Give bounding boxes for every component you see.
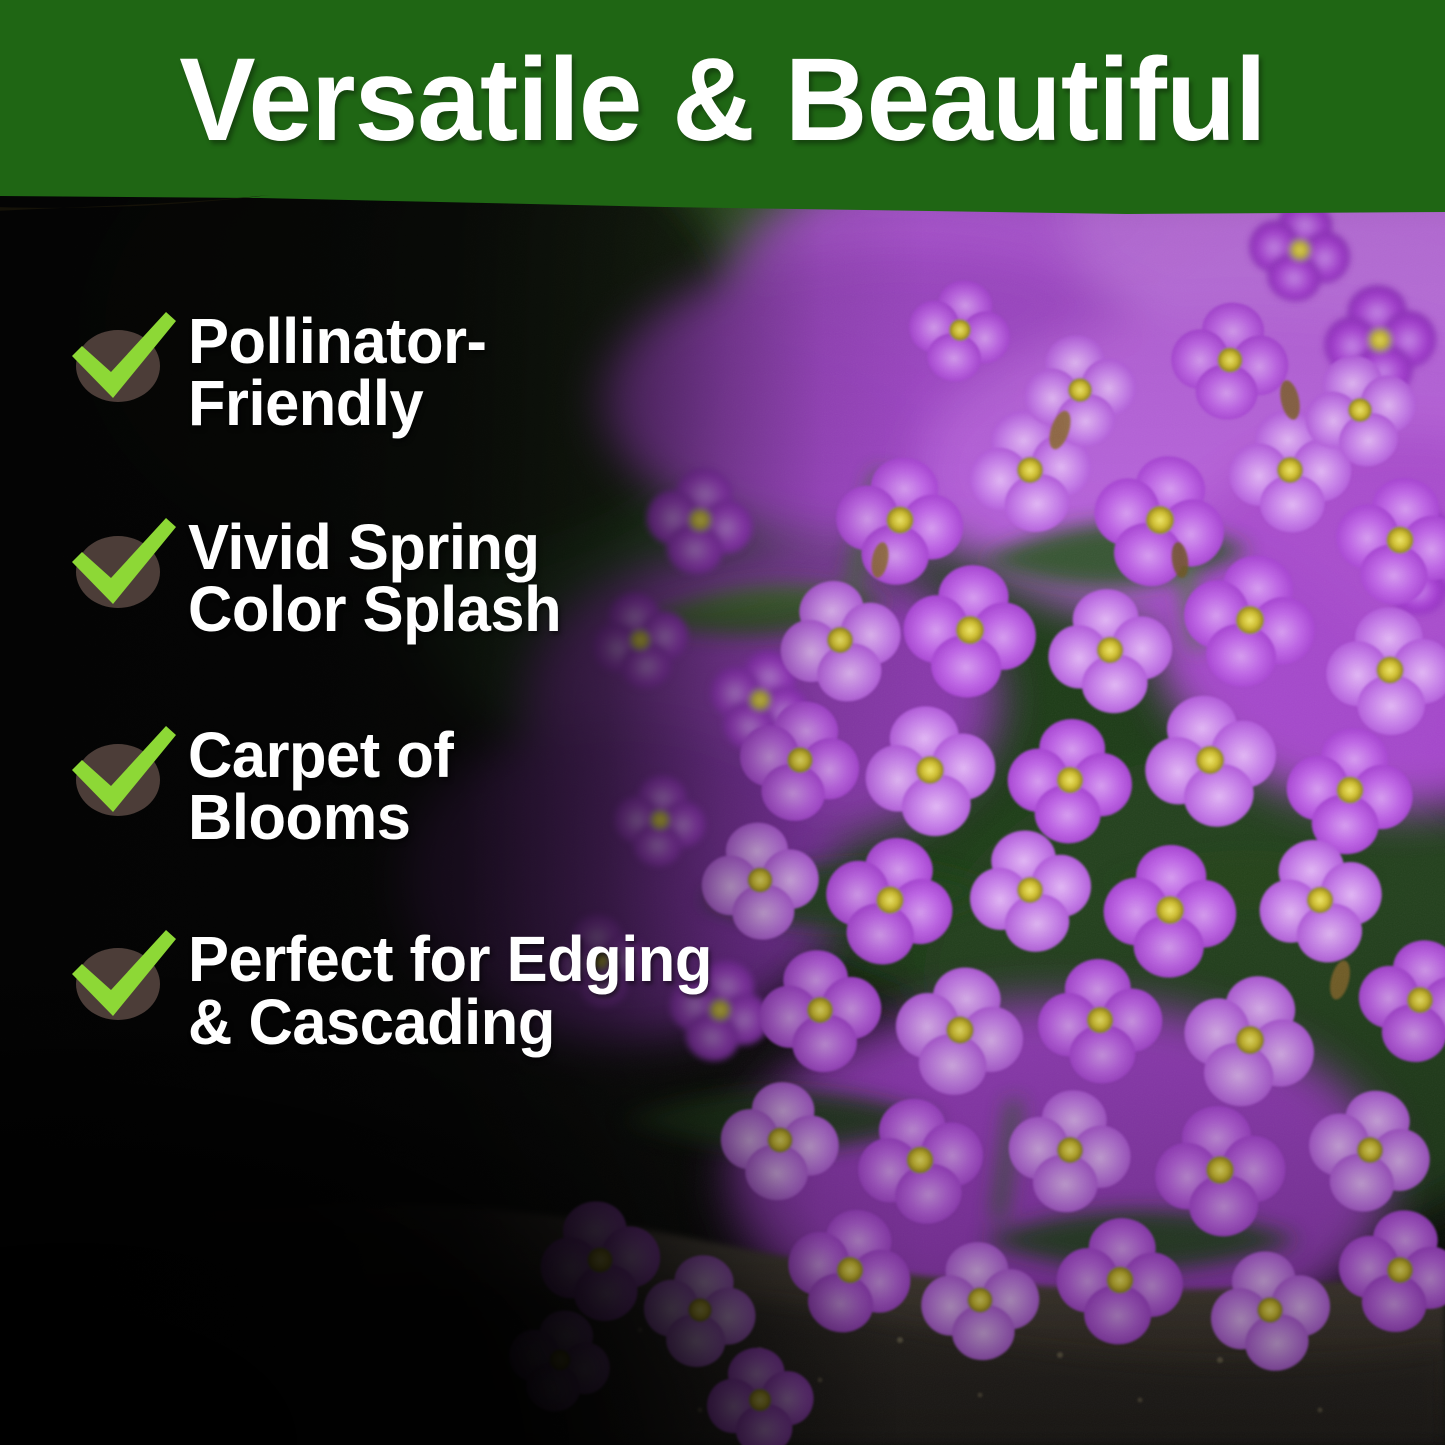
feature-item-carpet-of-blooms: Carpet of Blooms [0, 724, 840, 848]
feature-text: Vivid Spring Color Splash [188, 516, 814, 640]
feature-item-vivid-spring-color-splash: Vivid Spring Color Splash [0, 516, 840, 640]
feature-line: Friendly [188, 372, 814, 434]
feature-line: & Cascading [188, 991, 814, 1053]
check-icon [66, 516, 182, 612]
feature-list: Pollinator- Friendly Vivid Spring Color … [0, 236, 840, 1053]
feature-text: Pollinator- Friendly [188, 310, 814, 434]
promo-graphic: Versatile & Beautiful Pollinator- Friend… [0, 0, 1445, 1445]
feature-line: Pollinator- [188, 310, 814, 372]
feature-line: Blooms [188, 786, 814, 848]
check-icon [66, 928, 182, 1024]
page-title: Versatile & Beautiful [22, 0, 1424, 200]
feature-line: Carpet of [188, 724, 814, 786]
feature-item-perfect-for-edging-cascading: Perfect for Edging & Cascading [0, 928, 840, 1052]
feature-line: Perfect for Edging [188, 928, 814, 990]
feature-text: Perfect for Edging & Cascading [188, 928, 814, 1052]
feature-text: Carpet of Blooms [188, 724, 814, 848]
feature-item-pollinator-friendly: Pollinator- Friendly [0, 310, 840, 434]
check-icon [66, 310, 182, 406]
feature-line: Vivid Spring [188, 516, 814, 578]
feature-line: Color Splash [188, 578, 814, 640]
check-icon [66, 724, 182, 820]
